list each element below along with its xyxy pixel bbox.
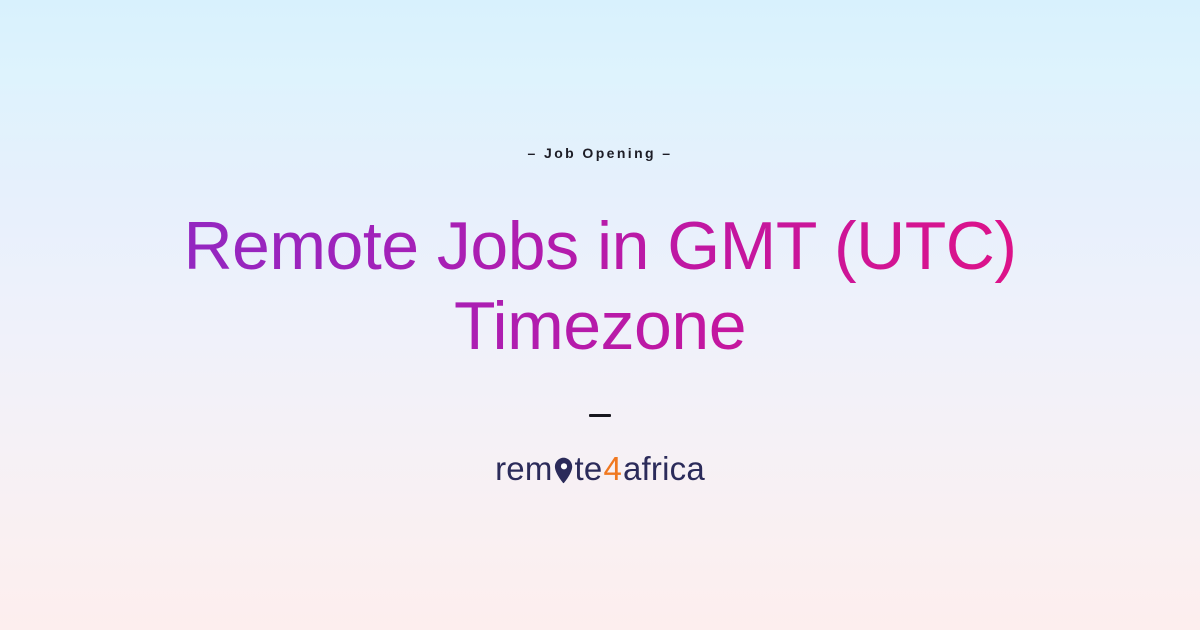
map-pin-icon [553, 456, 575, 486]
social-share-card: – Job Opening – Remote Jobs in GMT (UTC)… [0, 0, 1200, 630]
brand-logo-middle: te [575, 452, 603, 485]
page-title: Remote Jobs in GMT (UTC) Timezone [63, 207, 1136, 366]
page-title-line-2: Timezone [454, 288, 746, 364]
brand-logo-suffix: africa [623, 452, 705, 485]
brand-logo-prefix: rem [495, 452, 552, 485]
brand-logo-numeral: 4 [602, 452, 623, 485]
divider-rule [589, 414, 611, 417]
divider-container [589, 406, 611, 424]
brand-logo: rem te 4 africa [495, 452, 705, 485]
page-title-line-1: Remote Jobs in GMT (UTC) [183, 208, 1016, 284]
eyebrow-label: – Job Opening – [528, 145, 673, 161]
